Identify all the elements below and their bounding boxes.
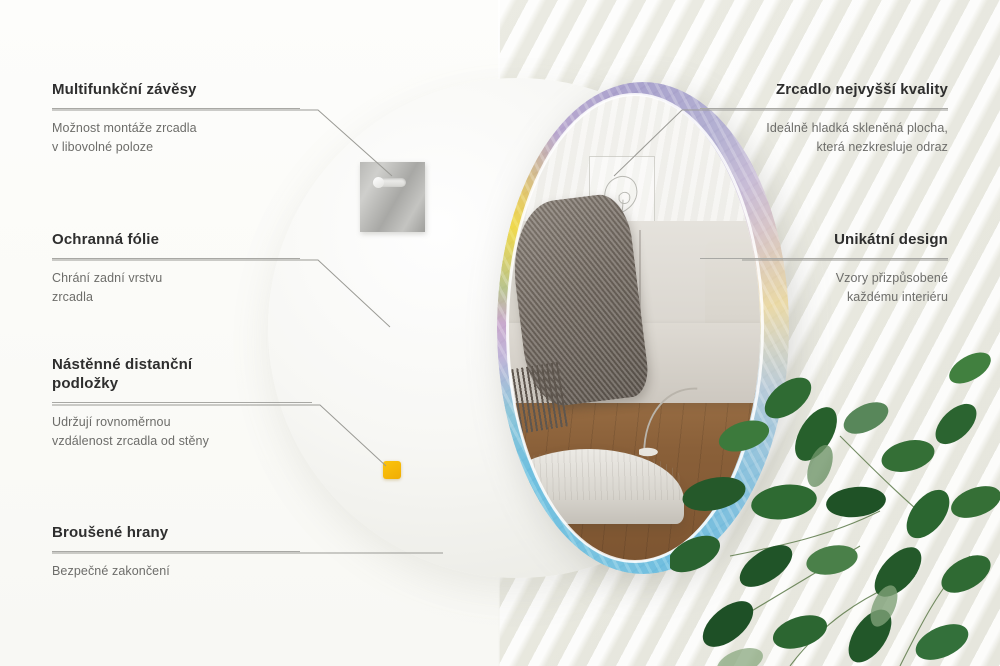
callout-desc-line-1: Udržují rovnoměrnou (52, 413, 312, 432)
callout-desc-line-1: Ideálně hladká skleněná plocha, (700, 119, 948, 138)
callout-desc-line-2: zrcadla (52, 288, 300, 307)
hanger-bracket-icon (360, 162, 425, 232)
callout-rule (700, 258, 948, 259)
callout-desc-line-2: vzdálenost zrcadla od stěny (52, 432, 312, 451)
callout-title: Zrcadlo nejvyšší kvality (700, 80, 948, 99)
callout-desc-line-2: která nezkresluje odraz (700, 138, 948, 157)
callout-title: Nástěnné distanční podložky (52, 355, 312, 393)
infographic-stage: Multifunkční závěsy Možnost montáže zrca… (0, 0, 1000, 666)
callout-desc-line-1: Chrání zadní vrstvu (52, 269, 300, 288)
throw-fringe (511, 362, 571, 434)
callout-description: Vzory přizpůsobené každému interiéru (700, 269, 948, 306)
callout-desc-line-2: každému interiéru (700, 288, 948, 307)
callout-description: Udržují rovnoměrnou vzdálenost zrcadla o… (52, 413, 312, 450)
callout-rule (52, 258, 300, 259)
callout-desc-line-1: Bezpečné zakončení (52, 562, 300, 581)
callout-multifunkcni-zavesy: Multifunkční závěsy Možnost montáže zrca… (52, 80, 300, 156)
callout-description: Možnost montáže zrcadla v libovolné polo… (52, 119, 300, 156)
callout-desc-line-1: Vzory přizpůsobené (700, 269, 948, 288)
callout-desc-line-1: Možnost montáže zrcadla (52, 119, 300, 138)
callout-ochranna-folie: Ochranná fólie Chrání zadní vrstvu zrcad… (52, 230, 300, 306)
wall-spacer-pad-icon (383, 461, 401, 479)
bracket-keyhole-hole (373, 177, 384, 188)
callout-zrcadlo-nejvyssi-kvality: Zrcadlo nejvyšší kvality Ideálně hladká … (700, 80, 948, 156)
callout-rule (52, 108, 300, 109)
callout-unikatni-design: Unikátní design Vzory přizpůsobené každé… (700, 230, 948, 306)
callout-title-line-2: podložky (52, 374, 312, 393)
callout-rule (700, 108, 948, 109)
callout-description: Chrání zadní vrstvu zrcadla (52, 269, 300, 306)
callout-desc-line-2: v libovolné poloze (52, 138, 300, 157)
callout-rule (52, 402, 312, 403)
callout-nastenne-distancni-podlozky: Nástěnné distanční podložky Udržují rovn… (52, 355, 312, 450)
callout-title: Unikátní design (700, 230, 948, 249)
callout-description: Bezpečné zakončení (52, 562, 300, 581)
callout-title: Ochranná fólie (52, 230, 300, 249)
callout-rule (52, 551, 300, 552)
foliage-decoration-icon (670, 306, 1000, 666)
callout-title-line-1: Nástěnné distanční (52, 355, 312, 374)
callout-title: Broušené hrany (52, 523, 300, 542)
callout-brousene-hrany: Broušené hrany Bezpečné zakončení (52, 523, 300, 581)
callout-description: Ideálně hladká skleněná plocha, která ne… (700, 119, 948, 156)
callout-title: Multifunkční závěsy (52, 80, 300, 99)
